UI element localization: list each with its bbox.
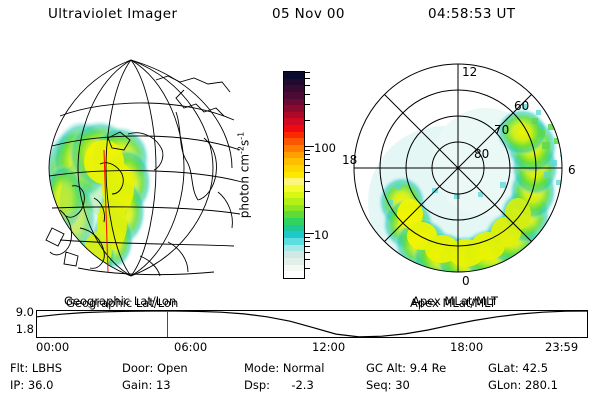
status-glon: GLon: 280.1 bbox=[488, 378, 558, 392]
geographic-globe-panel: Geographic Lat/Lon bbox=[8, 42, 260, 294]
status-row-2: IP: 36.0 Gain: 13 Dsp: -2.3 Seq: 30 GLon… bbox=[0, 378, 600, 395]
colorbar-segment-29 bbox=[284, 265, 304, 272]
colorbar-segment-8 bbox=[284, 125, 304, 132]
colorbar-minor-tick bbox=[305, 191, 310, 192]
colorbar-segment-19 bbox=[284, 198, 304, 205]
colorbar-minor-tick bbox=[305, 78, 310, 79]
orbit-title-right: Apex MLat/MLT bbox=[412, 294, 498, 308]
colorbar-ticks bbox=[305, 71, 314, 279]
colorbar-segment-12 bbox=[284, 152, 304, 159]
colorbar-segment-4 bbox=[284, 99, 304, 106]
observation-date: 05 Nov 00 bbox=[272, 6, 345, 22]
status-glat: GLat: 42.5 bbox=[488, 361, 548, 375]
status-dsp-label: Dsp: bbox=[244, 378, 270, 392]
status-gain: Gain: 13 bbox=[122, 378, 171, 392]
colorbar-minor-tick bbox=[305, 241, 310, 242]
orbit-xtick-1: 06:00 bbox=[174, 340, 207, 354]
colorbar-segment-20 bbox=[284, 205, 304, 212]
status-glon-value: 280.1 bbox=[525, 378, 558, 392]
status-seq-label: Seq: bbox=[366, 378, 392, 392]
mlat-label-70: 70 bbox=[494, 123, 509, 137]
colorbar-segment-27 bbox=[284, 251, 304, 258]
colorbar-axis-label: photon cm-2s-1 bbox=[237, 75, 252, 275]
colorbar-segment-21 bbox=[284, 211, 304, 218]
status-glat-value: 42.5 bbox=[522, 361, 548, 375]
colorbar-major-tick-10 bbox=[305, 233, 314, 234]
mlat-label-80: 80 bbox=[474, 147, 489, 161]
colorbar-segment-18 bbox=[284, 192, 304, 199]
observation-time: 04:58:53 UT bbox=[428, 6, 515, 22]
colorbar-minor-tick bbox=[305, 207, 310, 208]
colorbar-minor-tick bbox=[305, 181, 310, 182]
status-flt: Flt: LBHS bbox=[10, 361, 62, 375]
colorbar-segment-28 bbox=[284, 258, 304, 265]
status-mode-label: Mode: bbox=[244, 361, 279, 375]
current-time-marker bbox=[167, 311, 168, 337]
apex-polar-panel: 12 6 0 18 60 70 80 Apex MLat/MLT bbox=[336, 42, 594, 294]
colorbar-segment-23 bbox=[284, 225, 304, 232]
colorbar-segment-24 bbox=[284, 231, 304, 238]
colorbar-segment-7 bbox=[284, 118, 304, 125]
apex-polar-svg: 12 6 0 18 60 70 80 bbox=[336, 42, 594, 294]
colorbar-minor-tick bbox=[305, 159, 310, 160]
instrument-title: Ultraviolet Imager bbox=[48, 6, 177, 22]
colorbar-segment-10 bbox=[284, 138, 304, 145]
status-mode: Mode: Normal bbox=[244, 361, 324, 375]
orbit-xtick-3: 18:00 bbox=[450, 340, 483, 354]
orbit-xtick-4: 23:59 bbox=[545, 340, 578, 354]
aurora-emission-polar bbox=[368, 104, 565, 287]
mlat-label-60: 60 bbox=[514, 99, 529, 113]
colorbar-segment-0 bbox=[284, 72, 304, 79]
colorbar-minor-tick bbox=[305, 120, 310, 121]
colorbar-segment-1 bbox=[284, 79, 304, 86]
status-dsp: Dsp: -2.3 bbox=[244, 378, 314, 392]
status-dsp-value: -2.3 bbox=[291, 378, 313, 392]
colorbar-segment-5 bbox=[284, 105, 304, 112]
colorbar-minor-tick bbox=[305, 85, 310, 86]
orbit-ytick-top: 9.0 bbox=[0, 305, 34, 319]
status-gain-value: 13 bbox=[156, 378, 171, 392]
colorbar-segment-3 bbox=[284, 92, 304, 99]
status-seq-value: 30 bbox=[395, 378, 410, 392]
status-gcalt-value: 9.4 Re bbox=[410, 361, 447, 375]
status-flt-value: LBHS bbox=[32, 361, 62, 375]
orbit-altitude-trace bbox=[37, 311, 587, 337]
status-ip-value: 36.0 bbox=[28, 378, 54, 392]
mlt-label-18: 18 bbox=[342, 153, 357, 167]
colorbar-segment-25 bbox=[284, 238, 304, 245]
colorbar-segment-16 bbox=[284, 178, 304, 185]
geographic-globe-svg bbox=[8, 42, 260, 294]
orbit-title-left: Geographic Lat/Lon bbox=[64, 294, 176, 308]
status-glat-label: GLat: bbox=[488, 361, 519, 375]
colorbar-wrap: photon cm-2s-1 bbox=[283, 71, 305, 279]
colorbar-segment-15 bbox=[284, 172, 304, 179]
status-flt-label: Flt: bbox=[10, 361, 28, 375]
status-block: Flt: LBHS Door: Open Mode: Normal GC Alt… bbox=[0, 361, 600, 397]
colorbar-minor-tick bbox=[305, 72, 310, 73]
mlt-label-0: 0 bbox=[462, 274, 470, 288]
orbit-xtick-2: 12:00 bbox=[312, 340, 345, 354]
colorbar-minor-tick bbox=[305, 268, 310, 269]
orbit-altitude-panel: GC Alt 9.0 1.8 Geographic Lat/Lon Apex M… bbox=[0, 294, 600, 356]
colorbar-segment-13 bbox=[284, 158, 304, 165]
colorbar-minor-tick bbox=[305, 259, 310, 260]
status-ip: IP: 36.0 bbox=[10, 378, 53, 392]
colorbar-minor-tick bbox=[305, 237, 310, 238]
status-glon-label: GLon: bbox=[488, 378, 521, 392]
status-ip-label: IP: bbox=[10, 378, 24, 392]
colorbar-segment-26 bbox=[284, 245, 304, 252]
status-seq: Seq: 30 bbox=[366, 378, 410, 392]
mlt-label-6: 6 bbox=[568, 163, 576, 177]
uvi-display: Ultraviolet Imager 05 Nov 00 04:58:53 UT bbox=[0, 0, 600, 400]
colorbar-gradient bbox=[283, 71, 305, 279]
colorbar-minor-tick bbox=[305, 150, 310, 151]
status-door-value: Open bbox=[157, 361, 188, 375]
status-row-1: Flt: LBHS Door: Open Mode: Normal GC Alt… bbox=[0, 361, 600, 378]
colorbar-segment-30 bbox=[284, 271, 304, 278]
colorbar-minor-tick bbox=[305, 165, 310, 166]
colorbar-minor-tick bbox=[305, 246, 310, 247]
colorbar-segment-22 bbox=[284, 218, 304, 225]
colorbar-segment-9 bbox=[284, 132, 304, 139]
header-bar: Ultraviolet Imager 05 Nov 00 04:58:53 UT bbox=[0, 6, 600, 28]
colorbar-segment-2 bbox=[284, 85, 304, 92]
colorbar-minor-tick bbox=[305, 172, 310, 173]
colorbar-tick-100: 100 bbox=[314, 141, 336, 155]
colorbar-minor-tick bbox=[305, 252, 310, 253]
status-gcalt: GC Alt: 9.4 Re bbox=[366, 361, 446, 375]
status-door: Door: Open bbox=[122, 361, 188, 375]
colorbar-major-tick-100 bbox=[305, 146, 314, 147]
mlt-label-12: 12 bbox=[462, 65, 477, 79]
status-gcalt-label: GC Alt: bbox=[366, 361, 406, 375]
colorbar-segment-14 bbox=[284, 165, 304, 172]
colorbar-minor-tick bbox=[305, 94, 310, 95]
colorbar-segment-11 bbox=[284, 145, 304, 152]
orbit-ytick-bottom: 1.8 bbox=[0, 322, 34, 336]
colorbar-minor-tick bbox=[305, 104, 310, 105]
colorbar-tick-10: 10 bbox=[314, 228, 329, 242]
colorbar-segment-6 bbox=[284, 112, 304, 119]
orbit-xtick-0: 00:00 bbox=[36, 340, 69, 354]
polar-grid bbox=[354, 64, 562, 272]
status-door-label: Door: bbox=[122, 361, 153, 375]
orbit-plot-box bbox=[36, 310, 588, 338]
colorbar-segment-17 bbox=[284, 185, 304, 192]
status-gain-label: Gain: bbox=[122, 378, 152, 392]
colorbar-minor-tick bbox=[305, 154, 310, 155]
status-mode-value: Normal bbox=[283, 361, 325, 375]
